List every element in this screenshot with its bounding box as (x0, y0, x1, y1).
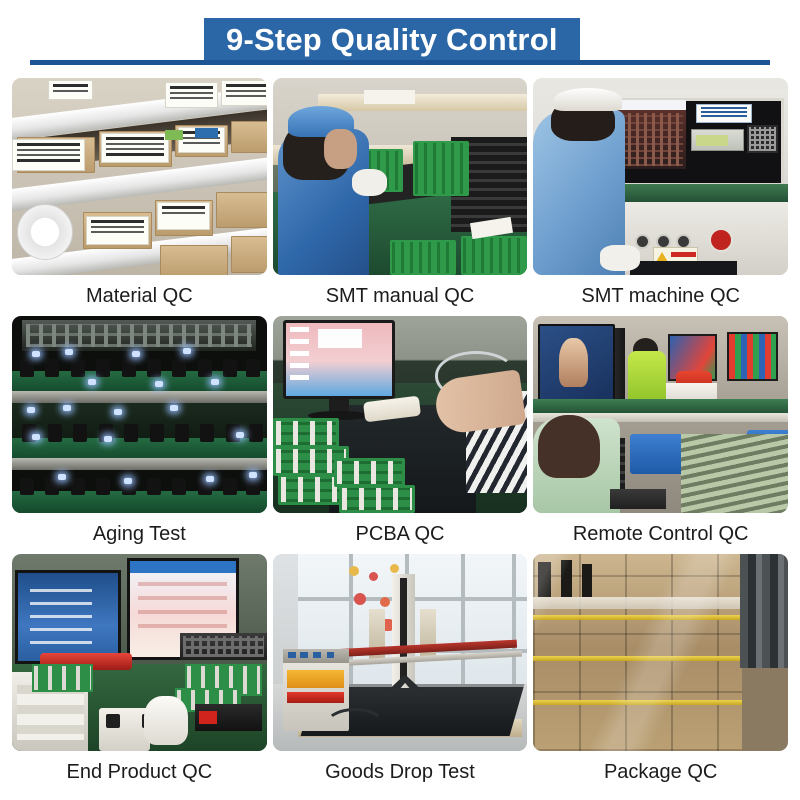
photo-pcba-qc (273, 316, 528, 513)
gallery-caption: Goods Drop Test (325, 761, 475, 783)
gallery-item-smt-manual-qc[interactable]: SMT manual QC (273, 78, 528, 316)
gallery-item-aging-test[interactable]: Aging Test (12, 316, 267, 554)
gallery-caption: Package QC (604, 761, 717, 783)
gallery-caption: Aging Test (93, 523, 186, 545)
page-title: 9-Step Quality Control (226, 24, 558, 55)
gallery-item-remote-control-qc[interactable]: Remote Control QC (533, 316, 788, 554)
photo-material-qc (12, 78, 267, 275)
gallery-caption: PCBA QC (356, 523, 445, 545)
photo-smt-manual-qc (273, 78, 528, 275)
photo-remote-control-qc (533, 316, 788, 513)
photo-end-product-qc (12, 554, 267, 751)
gallery-caption: SMT manual QC (326, 285, 475, 307)
photo-aging-test (12, 316, 267, 513)
gallery-caption: SMT machine QC (581, 285, 740, 307)
title-underline-rule (30, 60, 770, 65)
title-banner: 9-Step Quality Control (204, 18, 580, 60)
gallery-item-end-product-qc[interactable]: End Product QC (12, 554, 267, 792)
photo-package-qc (533, 554, 788, 751)
gallery-item-goods-drop-test[interactable]: Goods Drop Test (273, 554, 528, 792)
quality-control-gallery: Material QC SMT manual QC (0, 78, 800, 800)
photo-goods-drop-test (273, 554, 528, 751)
gallery-item-material-qc[interactable]: Material QC (12, 78, 267, 316)
photo-smt-machine-qc (533, 78, 788, 275)
gallery-caption: End Product QC (67, 761, 213, 783)
gallery-item-smt-machine-qc[interactable]: SMT machine QC (533, 78, 788, 316)
gallery-item-pcba-qc[interactable]: PCBA QC (273, 316, 528, 554)
gallery-caption: Material QC (86, 285, 193, 307)
gallery-item-package-qc[interactable]: Package QC (533, 554, 788, 792)
gallery-caption: Remote Control QC (573, 523, 749, 545)
page-header: 9-Step Quality Control (0, 0, 800, 78)
